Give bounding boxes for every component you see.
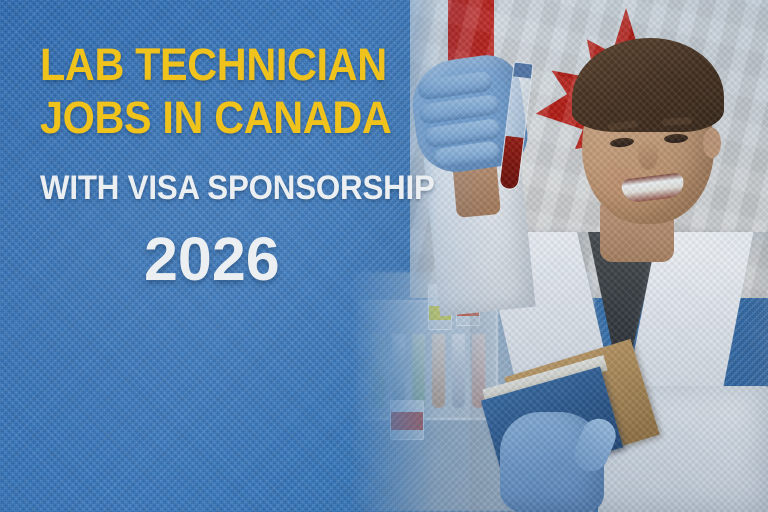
headline-line-1: LAB TECHNICIAN bbox=[40, 44, 408, 85]
headline-block: LAB TECHNICIAN JOBS IN CANADA WITH VISA … bbox=[40, 44, 440, 294]
job-promo-banner: LAB TECHNICIAN JOBS IN CANADA WITH VISA … bbox=[0, 0, 768, 512]
subheadline: WITH VISA SPONSORSHIP bbox=[40, 169, 408, 208]
headline-line-2: JOBS IN CANADA bbox=[40, 97, 408, 138]
year-label: 2026 bbox=[144, 224, 440, 294]
